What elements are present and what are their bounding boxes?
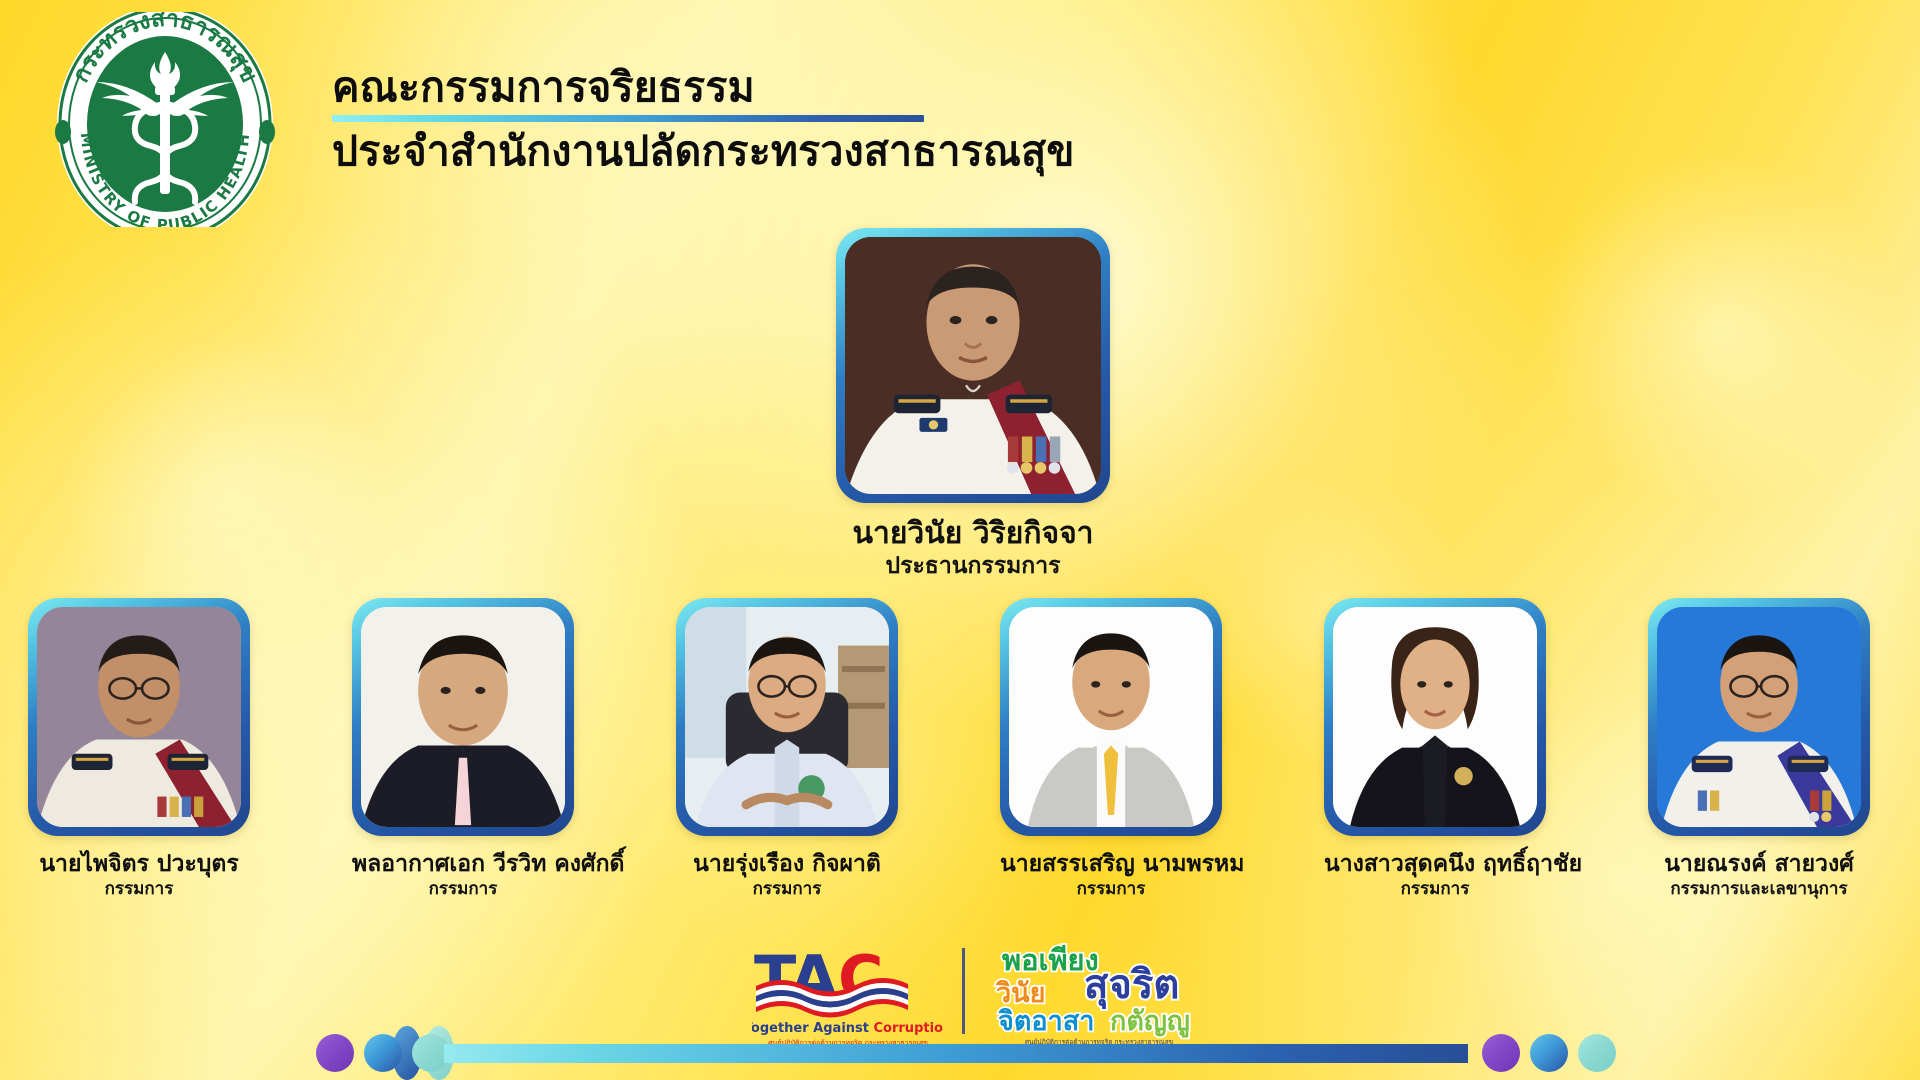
member-caption: นางสาวสุดคนึง ฤทธิ์ฤาชัย กรรมการ [1324, 850, 1546, 900]
bottom-decoration-band [0, 1026, 1920, 1080]
member-photo [37, 607, 241, 827]
title-divider [332, 115, 924, 122]
member-photo-frame [676, 598, 898, 836]
member-role: กรรมการ [1324, 878, 1546, 900]
page-title-line-1: คณะกรรมการจริยธรรม [332, 62, 1312, 112]
member-photo-frame [1000, 598, 1222, 836]
members-row: นายไพจิตร ปวะบุตร กรรมการ [0, 598, 1920, 898]
page-title-line-2: ประจำสำนักงานปลัดกระทรวงสาธารณสุข [332, 126, 1312, 176]
member-photo [1333, 607, 1537, 827]
member-role: กรรมการ [352, 878, 574, 900]
member-card[interactable]: นายรุ่งเรือง กิจผาติ กรรมการ [676, 598, 898, 900]
chairman-name: นายวินัย วิริยกิจจา [676, 516, 1270, 552]
member-card[interactable]: นางสาวสุดคนึง ฤทธิ์ฤาชัย กรรมการ [1324, 598, 1546, 900]
chairman-caption: นายวินัย วิริยกิจจา ประธานกรรมการ [676, 516, 1270, 581]
band-dot-blue [1530, 1034, 1568, 1072]
member-card[interactable]: นายไพจิตร ปวะบุตร กรรมการ [28, 598, 250, 900]
member-photo [1657, 607, 1861, 827]
member-name: นายสรรเสริญ นามพรหม [1000, 850, 1222, 878]
member-caption: นายสรรเสริญ นามพรหม กรรมการ [1000, 850, 1222, 900]
member-card[interactable]: พลอากาศเอก วีรวิท คงศักดิ์ กรรมการ [352, 598, 574, 900]
member-photo [1009, 607, 1213, 827]
member-role: กรรมการ [28, 878, 250, 900]
band-dot-blue [364, 1034, 402, 1072]
band-bar [444, 1044, 1468, 1063]
ministry-seal-icon: กระทรวงสาธารณสุข MINISTRY OF PUBLIC HEAL… [25, 12, 305, 227]
svg-text:สุจริต: สุจริต [1084, 962, 1179, 1010]
band-dot-purple [316, 1034, 354, 1072]
member-role: กรรมการ [1000, 878, 1222, 900]
chairman-photo-frame [836, 228, 1110, 503]
member-card[interactable]: นายณรงค์ สายวงศ์ กรรมการและเลขานุการ [1648, 598, 1870, 900]
chairman-photo [845, 237, 1101, 494]
member-name: พลอากาศเอก วีรวิท คงศักดิ์ [352, 850, 574, 878]
member-name: นายณรงค์ สายวงศ์ [1648, 850, 1870, 878]
member-photo [685, 607, 889, 827]
member-card[interactable]: นายสรรเสริญ นามพรหม กรรมการ [1000, 598, 1222, 900]
member-caption: นายณรงค์ สายวงศ์ กรรมการและเลขานุการ [1648, 850, 1870, 900]
member-name: นางสาวสุดคนึง ฤทธิ์ฤาชัย [1324, 850, 1546, 878]
member-caption: นายไพจิตร ปวะบุตร กรรมการ [28, 850, 250, 900]
band-dot-teal [1578, 1034, 1616, 1072]
member-name: นายรุ่งเรือง กิจผาติ [676, 850, 898, 878]
member-photo-frame [28, 598, 250, 836]
band-dot-purple [1482, 1034, 1520, 1072]
member-photo-frame [352, 598, 574, 836]
member-photo-frame [1324, 598, 1546, 836]
footer-divider [962, 948, 965, 1034]
member-photo-frame [1648, 598, 1870, 836]
member-role: กรรมการ [676, 878, 898, 900]
member-caption: นายรุ่งเรือง กิจผาติ กรรมการ [676, 850, 898, 900]
member-role: กรรมการและเลขานุการ [1648, 878, 1870, 900]
member-photo [361, 607, 565, 827]
member-caption: พลอากาศเอก วีรวิท คงศักดิ์ กรรมการ [352, 850, 574, 900]
chairman-role: ประธานกรรมการ [676, 552, 1270, 581]
member-name: นายไพจิตร ปวะบุตร [28, 850, 250, 878]
header: กระทรวงสาธารณสุข MINISTRY OF PUBLIC HEAL… [0, 0, 1920, 230]
chairman-card[interactable]: นายวินัย วิริยกิจจา ประธานกรรมการ [836, 228, 1110, 503]
svg-text:วินัย: วินัย [995, 978, 1045, 1009]
title-block: คณะกรรมการจริยธรรม ประจำสำนักงานปลัดกระท… [332, 62, 1312, 176]
